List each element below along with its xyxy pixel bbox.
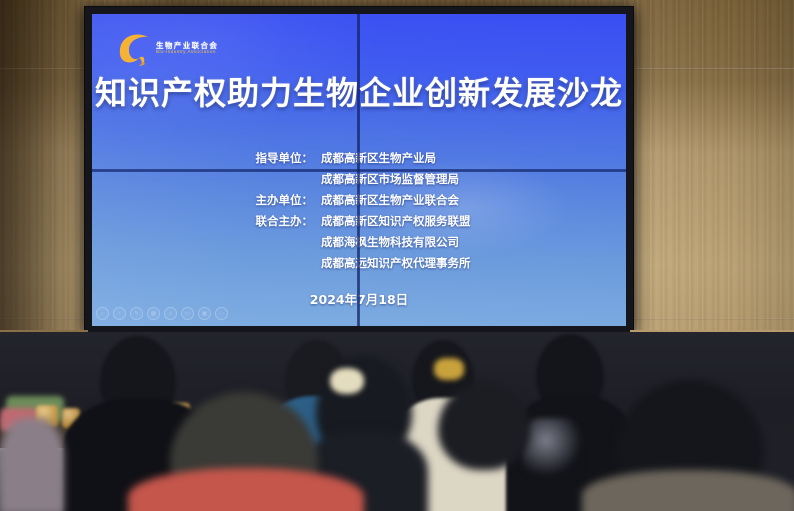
organizer-value: 成都高新区生物产业联合会 [313, 192, 509, 208]
conference-room-photo: 生物产业联合会 Bio-Industry Association 知识产权助力生… [0, 0, 794, 511]
organizer-value: 成都高远知识产权代理事务所 [313, 255, 509, 271]
organizer-label: 指导单位： [209, 150, 313, 166]
organizer-label: 主办单位： [209, 192, 313, 208]
attendee-edge-left [0, 418, 64, 511]
organizer-value: 成都高新区知识产权服务联盟 [313, 213, 509, 229]
all-slides-button[interactable]: ▦ [147, 307, 160, 320]
organizer-label: 联合主办： [209, 213, 313, 229]
blackout-button[interactable]: ▣ [198, 307, 211, 320]
video-wall-seam-horizontal [92, 169, 626, 172]
organizer-label [209, 234, 313, 250]
more-options-button[interactable]: ⋯ [215, 307, 228, 320]
pen-tool-button[interactable]: ✎ [130, 307, 143, 320]
organizer-value: 成都高新区生物产业局 [313, 150, 509, 166]
organizer-value: 成都海枫生物科技有限公司 [313, 234, 509, 250]
organizer-label [209, 171, 313, 187]
attendee-front-right-body [582, 470, 794, 511]
patterned-blouse [522, 418, 582, 482]
organization-logo: 生物产业联合会 Bio-Industry Association [112, 24, 220, 70]
video-wall-display[interactable]: 生物产业联合会 Bio-Industry Association 知识产权助力生… [84, 6, 634, 334]
powerpoint-slideshow-toolbar[interactable]: ‹ › ✎ ▦ ⌕ ▭ ▣ ⋯ [96, 307, 228, 320]
hair-accessory-gold [434, 358, 464, 380]
attendee-front-far-head [438, 382, 530, 470]
previous-slide-button[interactable]: ‹ [96, 307, 109, 320]
organizer-label [209, 255, 313, 271]
subtitles-button[interactable]: ▭ [181, 307, 194, 320]
logo-english-name: Bio-Industry Association [156, 49, 216, 54]
hair-scrunchie [330, 368, 364, 394]
next-slide-button[interactable]: › [113, 307, 126, 320]
zoom-in-button[interactable]: ⌕ [164, 307, 177, 320]
screen-surface[interactable]: 生物产业联合会 Bio-Industry Association 知识产权助力生… [92, 14, 626, 326]
organizer-value: 成都高新区市场监督管理局 [313, 171, 509, 187]
